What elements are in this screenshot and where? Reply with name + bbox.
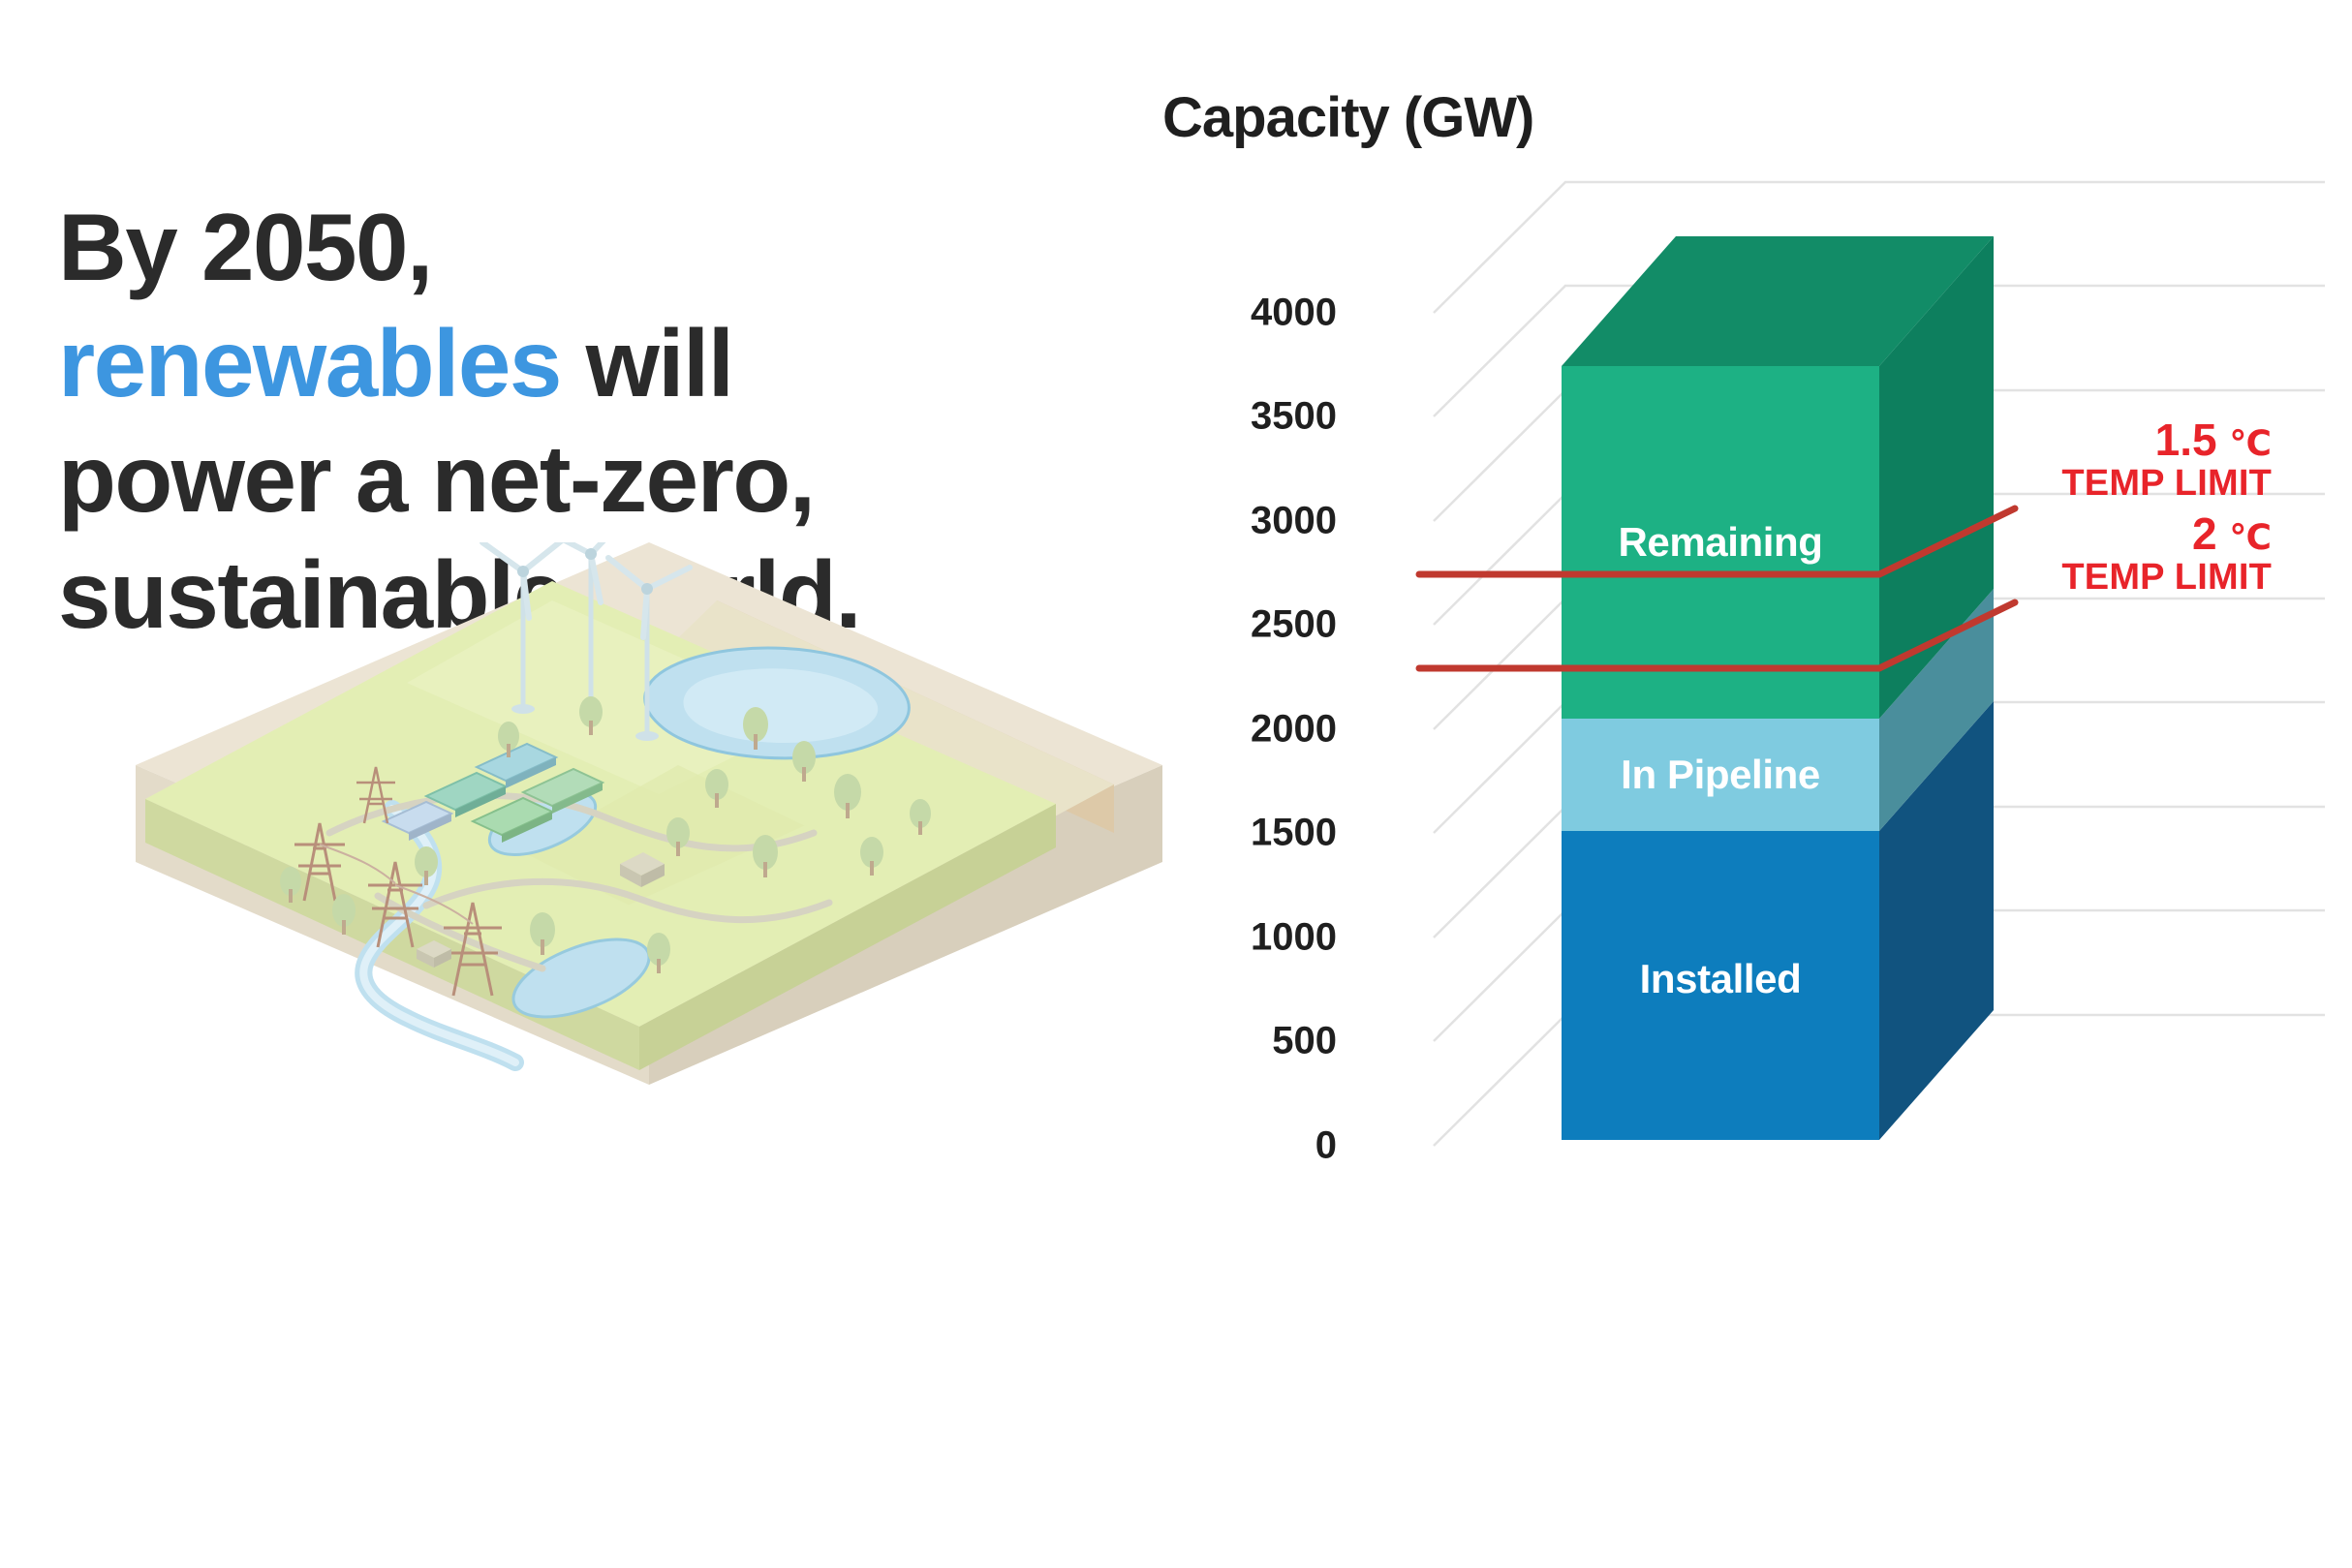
ytick-2000: 2000 xyxy=(1162,708,1337,752)
infographic-canvas: By 2050, renewables will power a net-zer… xyxy=(0,0,2352,1568)
ytick-3500: 3500 xyxy=(1162,395,1337,439)
ytick-500: 500 xyxy=(1162,1020,1337,1063)
annotation-2-value: 2 ℃ xyxy=(2020,510,2272,558)
bar-label-remaining: Remaining xyxy=(1618,519,1822,566)
ytick-0: 0 xyxy=(1162,1124,1337,1168)
annotation-1-5-label: TEMP LIMIT xyxy=(2020,464,2272,503)
headline-line-1: By 2050, xyxy=(58,190,1143,306)
ytick-2500: 2500 xyxy=(1162,603,1337,647)
headline-line-2: renewables will xyxy=(58,306,1143,422)
annotation-2-label: TEMP LIMIT xyxy=(2020,558,2272,597)
headline-accent-word: renewables xyxy=(58,310,561,416)
landscape-svg xyxy=(136,542,1162,1201)
headline-line-3: power a net-zero, xyxy=(58,421,1143,538)
headline-line-2-rest: will xyxy=(561,310,733,416)
annotation-temp-limit-1-5: 1.5 ℃ TEMP LIMIT xyxy=(2020,416,2272,503)
isometric-landscape-illustration xyxy=(136,542,1162,1201)
ytick-3000: 3000 xyxy=(1162,500,1337,543)
annotation-temp-limit-2: 2 ℃ TEMP LIMIT xyxy=(2020,510,2272,597)
bar-label-installed: Installed xyxy=(1640,956,1802,1002)
annotation-1-5-value: 1.5 ℃ xyxy=(2020,416,2272,464)
ytick-4000: 4000 xyxy=(1162,292,1337,335)
ytick-1500: 1500 xyxy=(1162,812,1337,855)
bar-label-in-pipeline: In Pipeline xyxy=(1621,752,1820,798)
capacity-chart: Capacity (GW) xyxy=(1143,68,2325,1211)
ytick-1000: 1000 xyxy=(1162,916,1337,960)
